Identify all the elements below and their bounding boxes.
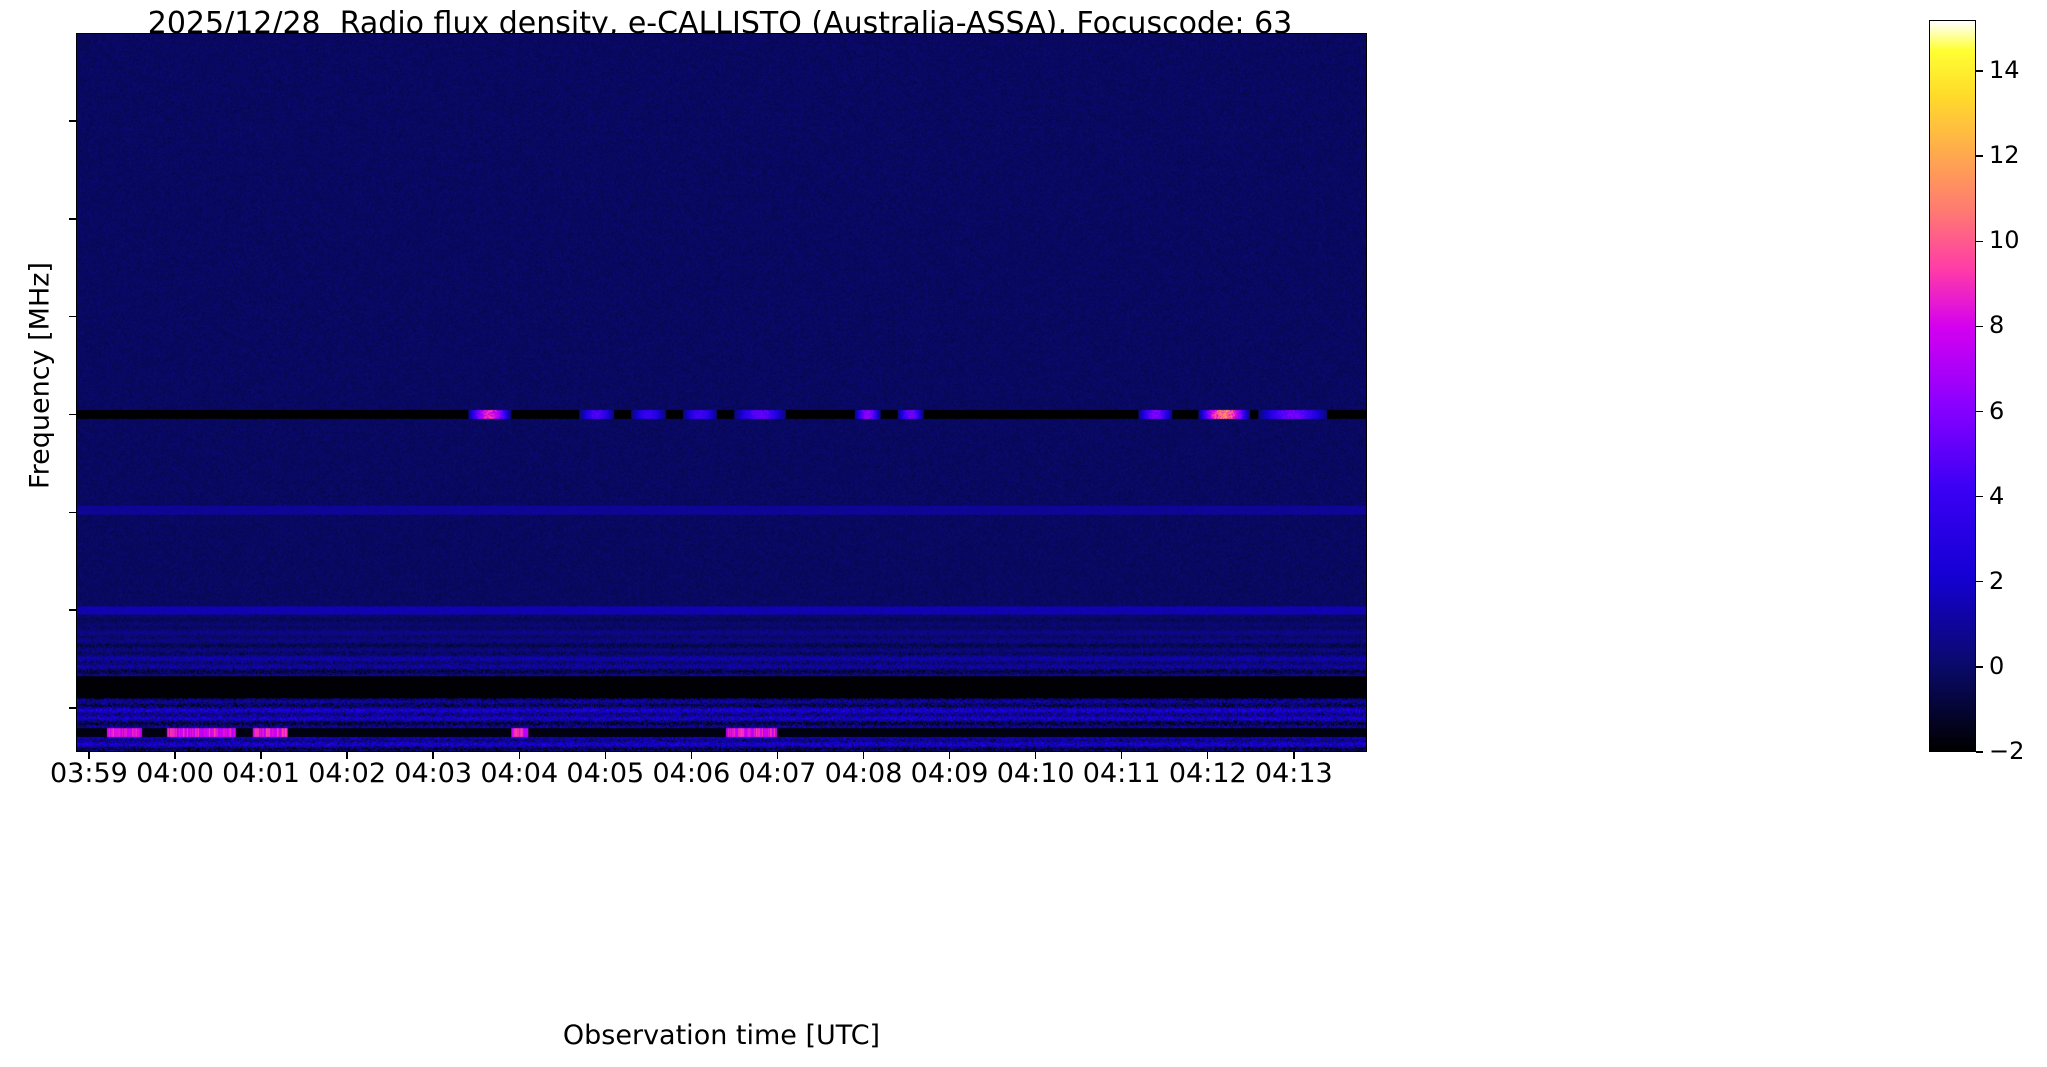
y-tick-mark	[69, 512, 76, 513]
colorbar-tick-label: 12	[1989, 143, 2047, 167]
colorbar-tick-label: −2	[1989, 739, 2047, 763]
colorbar-tick-mark	[1976, 155, 1983, 156]
colorbar-tick-mark	[1976, 241, 1983, 242]
colorbar[interactable]	[1929, 20, 1976, 752]
colorbar-tick-label: 6	[1989, 399, 2047, 423]
colorbar-tick-mark	[1976, 666, 1983, 667]
spectrogram-plot-area[interactable]	[76, 33, 1367, 752]
colorbar-image	[1930, 21, 1975, 751]
y-tick-mark	[69, 316, 76, 317]
colorbar-tick-mark	[1976, 751, 1983, 752]
x-tick-label: 04:13	[1204, 760, 1384, 787]
y-tick-mark	[69, 414, 76, 415]
y-tick-mark	[69, 707, 76, 708]
spectrogram-figure: 2025/12/28 Radio flux density, e-CALLIST…	[0, 0, 2047, 1067]
x-axis-label: Observation time [UTC]	[76, 1020, 1367, 1051]
y-tick-mark	[69, 120, 76, 121]
colorbar-tick-label: 14	[1989, 58, 2047, 82]
colorbar-tick-label: 8	[1989, 313, 2047, 337]
spectrogram-image	[77, 34, 1366, 751]
colorbar-gradient	[1929, 20, 1976, 752]
y-tick-mark	[69, 218, 76, 219]
colorbar-tick-label: 0	[1989, 654, 2047, 678]
colorbar-tick-mark	[1976, 496, 1983, 497]
colorbar-tick-mark	[1976, 581, 1983, 582]
colorbar-tick-label: 4	[1989, 484, 2047, 508]
colorbar-tick-label: 2	[1989, 569, 2047, 593]
colorbar-tick-mark	[1976, 326, 1983, 327]
y-axis-label: Frequency [MHz]	[25, 26, 56, 726]
y-tick-mark	[69, 609, 76, 610]
colorbar-tick-label: 10	[1989, 228, 2047, 252]
colorbar-tick-mark	[1976, 70, 1983, 71]
colorbar-tick-mark	[1976, 411, 1983, 412]
